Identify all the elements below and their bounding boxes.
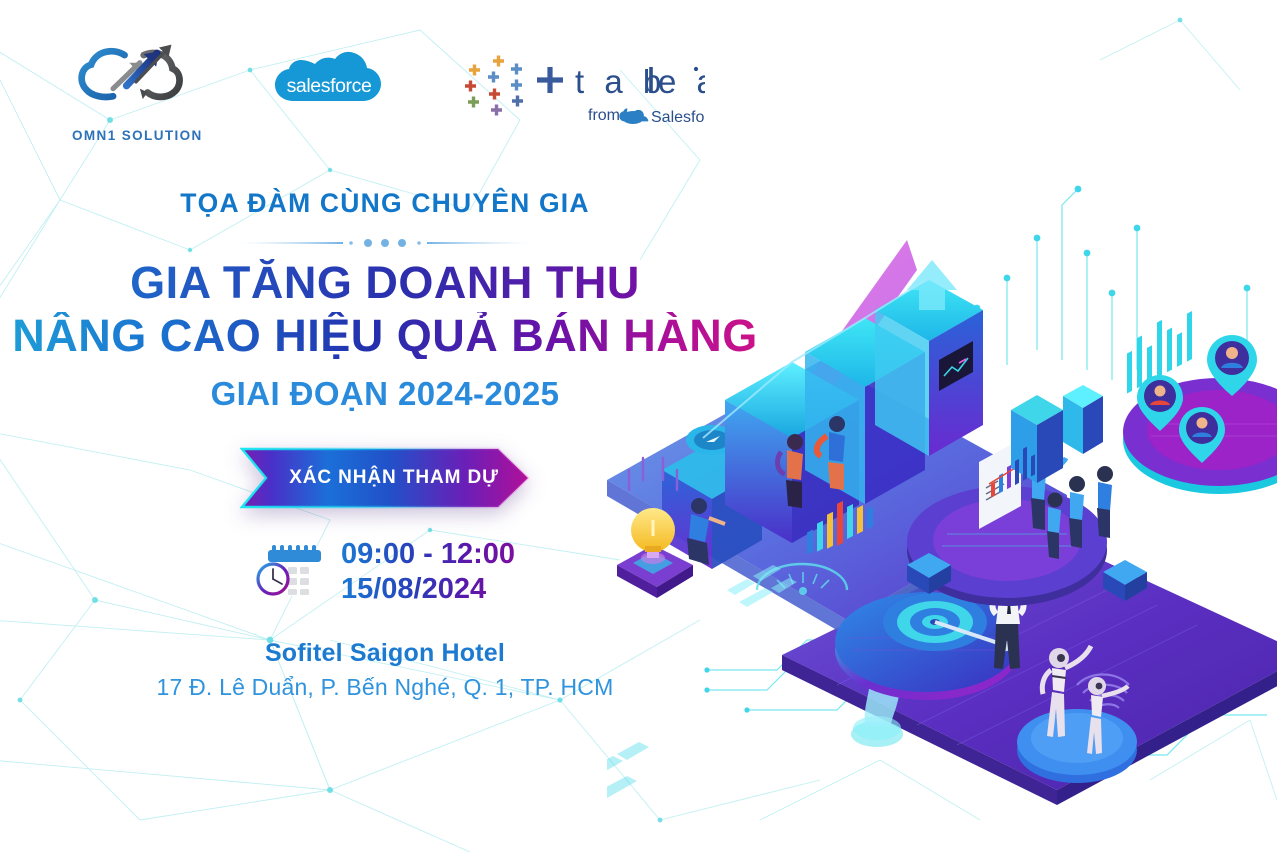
eyebrow-text: TỌA ĐÀM CÙNG CHUYÊN GIA <box>0 188 770 219</box>
tableau-tagline-from: from <box>588 107 620 124</box>
event-date: 15/08/2024 <box>341 572 515 607</box>
logo-omni-solution: OMN1 SOLUTION <box>72 36 203 143</box>
cloud-arrows-logo-icon <box>72 36 202 124</box>
svg-text:t a b: t a b <box>575 63 667 100</box>
salesforce-cloud-logo-icon: salesforce <box>265 50 393 130</box>
logo-row: OMN1 SOLUTION salesforce <box>72 36 705 143</box>
tableau-plus-grid-icon: t a b e a u from Salesforce <box>455 44 705 136</box>
venue-address: 17 Đ. Lê Duẩn, P. Bến Nghé, Q. 1, TP. HC… <box>0 674 770 701</box>
venue-block: Sofitel Saigon Hotel 17 Đ. Lê Duẩn, P. B… <box>0 639 770 701</box>
logo-tableau: t a b e a u from Salesforce <box>455 44 705 136</box>
decorative-divider <box>235 235 535 251</box>
venue-name: Sofitel Saigon Hotel <box>0 639 770 668</box>
tableau-tagline-brand: Salesforce <box>651 109 705 126</box>
event-datetime: 09:00 - 12:00 15/08/2024 <box>0 537 770 607</box>
salesforce-wordmark: salesforce <box>286 75 371 97</box>
event-time: 09:00 - 12:00 <box>341 537 515 572</box>
period-text: GIAI ĐOẠN 2024-2025 <box>0 375 770 413</box>
headline-line-1: GIA TĂNG DOANH THU <box>0 259 770 307</box>
calendar-clock-icon <box>255 541 327 603</box>
banner-stage: OMN1 SOLUTION salesforce <box>0 0 1277 852</box>
headline-line-2: NÂNG CAO HIỆU QUẢ BÁN HÀNG <box>0 312 770 360</box>
content-column: TỌA ĐÀM CÙNG CHUYÊN GIA GIA TĂNG DOANH T… <box>0 188 770 701</box>
register-button[interactable]: XÁC NHẬN THAM DỰ <box>240 447 530 509</box>
logo-salesforce: salesforce <box>265 46 393 134</box>
avatar-dais <box>1123 335 1277 494</box>
logo-omni-label: OMN1 SOLUTION <box>72 128 203 143</box>
headline: GIA TĂNG DOANH THU NÂNG CAO HIỆU QUẢ BÁN… <box>0 259 770 359</box>
